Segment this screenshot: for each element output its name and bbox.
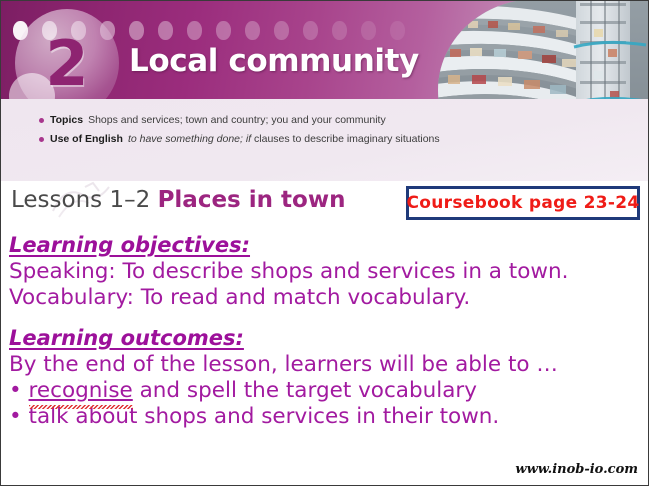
topic-label: Use of English	[50, 133, 123, 145]
misspelled-word: recognise	[29, 378, 133, 403]
page-title: Lessons 1–2 Places in town	[11, 187, 345, 213]
banner-dot	[129, 21, 144, 40]
lesson-prefix: Lessons 1–2	[11, 187, 150, 213]
banner-dot	[390, 21, 405, 40]
bullet-glyph: •	[9, 404, 22, 429]
topic-text: Shops and services; town and country; yo…	[88, 114, 386, 127]
lesson-name: Places in town	[158, 187, 346, 213]
topic-text: clauses to describe imaginary situations	[254, 133, 440, 145]
lesson-slide: 2 Local community	[0, 0, 649, 486]
spellcheck-squiggle-icon	[29, 405, 133, 409]
bullet-glyph: •	[9, 378, 22, 403]
banner-dot	[332, 21, 347, 40]
objective-line-speaking: Speaking: To describe shops and services…	[9, 259, 639, 285]
site-watermark: www.inob-io.com	[515, 462, 638, 477]
slide-header: 2 Local community	[1, 1, 649, 181]
banner-dot	[303, 21, 318, 40]
unit-title: Local community	[129, 43, 419, 79]
unit-info-strip: Topics Shops and services; town and coun…	[1, 99, 649, 181]
bullet-icon	[39, 137, 44, 142]
coursebook-reference-label: Coursebook page 23-24	[407, 193, 640, 213]
topic-row-topics: Topics Shops and services; town and coun…	[39, 114, 449, 127]
learning-outcomes-heading: Learning outcomes:	[9, 325, 639, 351]
slide-body: Learning objectives: Speaking: To descri…	[9, 232, 639, 430]
section-spacer	[9, 311, 639, 325]
banner-dot	[361, 21, 376, 40]
bullet-icon	[39, 118, 44, 123]
topic-row-use-of-english: Use of Englishto have something done; if…	[39, 133, 449, 146]
banner-dot	[158, 21, 173, 40]
coursebook-reference-box[interactable]: Coursebook page 23-24	[406, 186, 640, 220]
banner-dot	[274, 21, 289, 40]
topic-list: Topics Shops and services; town and coun…	[39, 114, 449, 152]
banner-dot	[245, 21, 260, 40]
topic-emphasis: to have something done; if	[128, 133, 251, 145]
misspelled-word-text: recognise	[29, 378, 133, 403]
outcome-bullet-1-rest: and spell the target vocabulary	[133, 378, 477, 403]
outcome-bullet-1: • recognise and spell the target vocabul…	[9, 378, 639, 404]
learning-objectives-heading: Learning objectives:	[9, 232, 639, 258]
banner-dot	[216, 21, 231, 40]
outcomes-intro: By the end of the lesson, learners will …	[9, 352, 639, 378]
objective-line-vocabulary: Vocabulary: To read and match vocabulary…	[9, 285, 639, 311]
topic-label: Topics	[50, 114, 83, 127]
banner-dot	[187, 21, 202, 40]
